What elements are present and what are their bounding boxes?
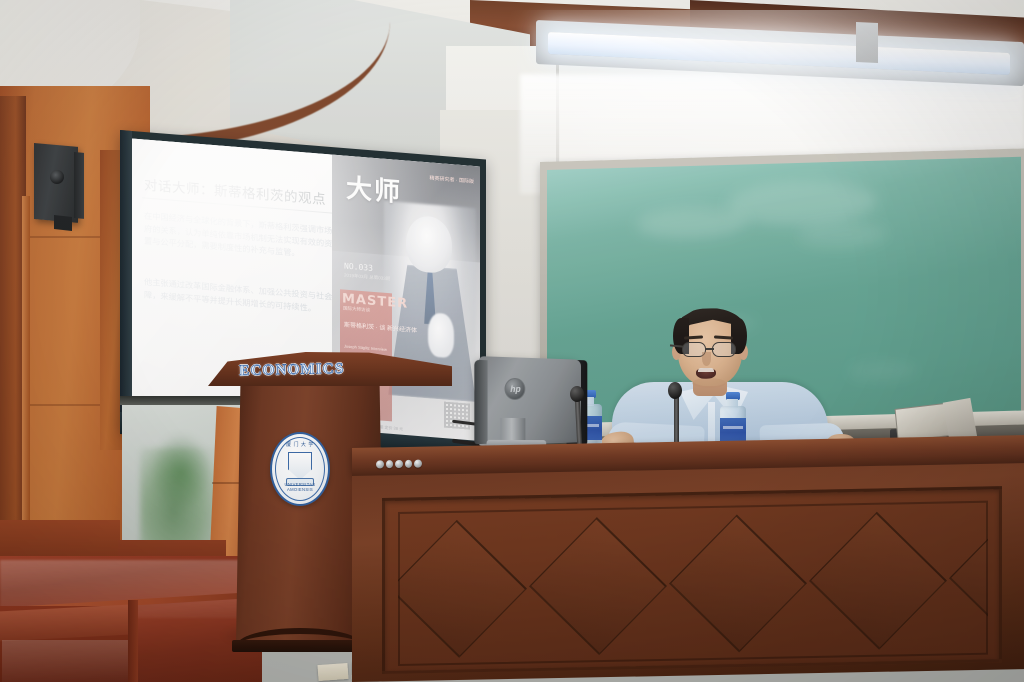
desk-button-2[interactable]	[386, 460, 394, 468]
hp-logo-text: hp	[508, 382, 522, 397]
speaker-chin	[692, 378, 726, 388]
hp-monitor	[479, 356, 581, 446]
stage-step-gloss	[2, 640, 128, 682]
magazine-qr-code-icon	[444, 402, 470, 430]
glass-top-rail	[120, 396, 246, 405]
slide-bullet-1: 在中国经济与全球化的背景下，斯蒂格利茨强调市场与政府的关系，认为单纯依靠市场机制…	[144, 209, 352, 264]
speaker-mount-bracket	[54, 215, 72, 231]
magazine-issue-number: NO.033	[344, 262, 373, 273]
monitor-left-edge	[474, 360, 487, 444]
desk-panel-inner	[398, 501, 988, 666]
magazine-portrait-hand	[428, 312, 454, 358]
desk-button-1[interactable]	[376, 460, 384, 468]
podium-label: ECONOMICS	[228, 361, 356, 386]
speaker-nose	[702, 352, 711, 366]
paper-on-floor-1	[317, 663, 348, 681]
microphone-icon-right	[668, 382, 682, 399]
screen-left-edge	[120, 130, 132, 431]
slide-bullet-2: 他主张通过改革国际金融体系、加强公共投资与社会保障，来缓解不平等并提升长期增长的…	[144, 275, 352, 317]
microphone-icon-left	[570, 386, 584, 402]
magazine-title: 大师	[346, 168, 402, 210]
emblem-top-text: 厦 门 大 学	[280, 441, 320, 453]
stage-riser-vertical	[128, 600, 138, 682]
eyeglasses-lens-right	[712, 342, 736, 357]
desk-button-5[interactable]	[414, 460, 422, 468]
emblem-bottom-text: UNIVERSITAS AMOIENSIS	[272, 482, 328, 500]
desk-button-4[interactable]	[405, 460, 413, 468]
ceiling-light-joint	[856, 22, 878, 63]
lecture-hall-photo: 对话大师：斯蒂格利茨的观点 在中国经济与全球化的背景下，斯蒂格利茨强调市场与政府…	[0, 0, 1024, 682]
speaker-teeth	[698, 368, 714, 372]
eyeglasses-bridge	[705, 348, 714, 350]
bottle-label-right	[720, 418, 746, 442]
wall-speaker-side	[74, 152, 84, 219]
podium-label-text: ECONOMICS	[239, 361, 344, 379]
speaker-cone-icon	[50, 170, 64, 184]
desk-control-buttons[interactable]	[376, 459, 422, 470]
desk-button-3[interactable]	[395, 460, 403, 468]
